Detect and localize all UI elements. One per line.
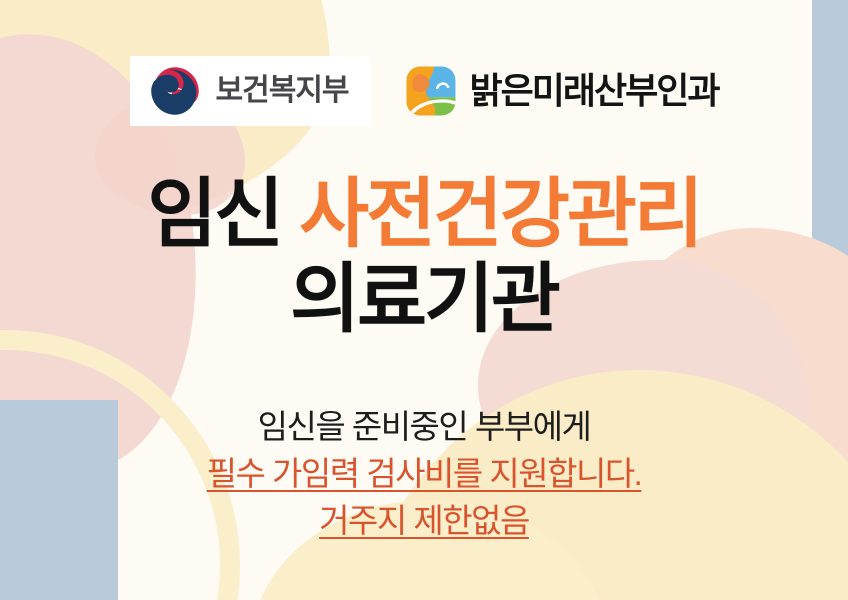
- body-copy-line-3: 거주지 제한없음: [0, 498, 848, 545]
- promotional-poster: 보건복지부: [0, 0, 848, 600]
- body-copy-line-2: 필수 가임력 검사비를 지원합니다.: [0, 451, 848, 498]
- ministry-logo: 보건복지부: [130, 56, 371, 126]
- body-copy-line-1: 임신을 준비중인 부부에게: [0, 404, 848, 451]
- headline-line-1: 임신 사전건강관리: [0, 172, 848, 257]
- headline-word-pregnancy: 임신: [147, 172, 281, 257]
- clinic-logo-text: 밝은미래산부인과: [470, 73, 719, 109]
- headline-block: 임신 사전건강관리 의료기관: [0, 172, 848, 342]
- taeguk-spiral-icon: [148, 64, 202, 118]
- body-copy-block: 임신을 준비중인 부부에게 필수 가임력 검사비를 지원합니다. 거주지 제한없…: [0, 404, 848, 545]
- clinic-logo: 밝은미래산부인과: [405, 65, 719, 117]
- headline-word-precare: 사전건강관리: [299, 172, 701, 257]
- logo-row: 보건복지부: [0, 55, 848, 127]
- mother-and-child-icon: [405, 65, 457, 117]
- poster-content: 보건복지부: [0, 0, 848, 600]
- headline-line-2: 의료기관: [0, 257, 848, 342]
- ministry-logo-text: 보건복지부: [216, 76, 349, 106]
